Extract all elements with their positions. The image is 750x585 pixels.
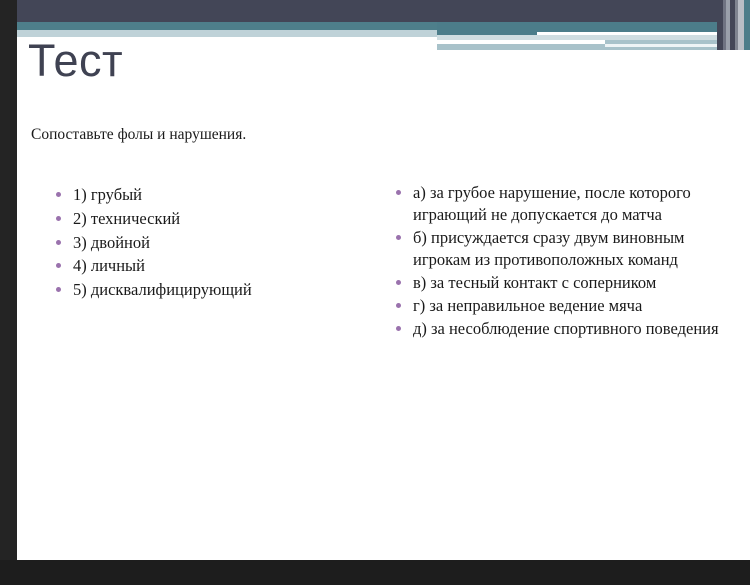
list-item: в) за тесный контакт с соперником <box>391 272 721 294</box>
slide-lead-text: Сопоставьте фолы и нарушения. <box>31 126 246 144</box>
header-stripe <box>744 0 750 50</box>
header-stripe <box>723 0 726 50</box>
header-mid-band-right <box>437 40 750 50</box>
list-item: д) за несоблюдение спортивного поведения <box>391 318 721 340</box>
header-white-sliver-top <box>537 32 750 35</box>
header-teal-band-left <box>17 22 437 30</box>
list-item: 2) технический <box>51 208 381 230</box>
header-pale-band-right <box>437 35 750 40</box>
header-dark-band <box>17 0 750 22</box>
list-item: а) за грубое нарушение, после которого и… <box>391 182 721 226</box>
header-white-sliver-mid <box>437 40 605 44</box>
header-teal-band-right <box>437 22 750 35</box>
list-item: 5) дисквалифицирующий <box>51 279 381 301</box>
header-stripe <box>738 0 744 50</box>
list-item: б) присуждается сразу двум виновным игро… <box>391 227 721 271</box>
list-item: 4) личный <box>51 255 381 277</box>
header-stripe <box>726 0 730 50</box>
slide-title: Тест <box>28 36 123 86</box>
list-item: 3) двойной <box>51 232 381 254</box>
left-column: 1) грубый 2) технический 3) двойной 4) л… <box>51 184 381 303</box>
right-bullet-list: а) за грубое нарушение, после которого и… <box>391 182 721 340</box>
left-bullet-list: 1) грубый 2) технический 3) двойной 4) л… <box>51 184 381 301</box>
list-item: 1) грубый <box>51 184 381 206</box>
window-bottom-margin <box>0 560 750 585</box>
header-stripe <box>730 0 735 50</box>
presentation-screen: Тест Сопоставьте фолы и нарушения. 1) гр… <box>0 0 750 585</box>
window-left-margin <box>0 0 17 585</box>
slide-canvas: Тест Сопоставьте фолы и нарушения. 1) гр… <box>17 0 750 560</box>
header-vertical-stripes <box>717 0 750 50</box>
header-stripe <box>717 0 723 50</box>
header-stripe <box>735 0 738 50</box>
list-item: г) за неправильное ведение мяча <box>391 295 721 317</box>
header-white-sliver-low <box>605 44 750 47</box>
right-column: а) за грубое нарушение, после которого и… <box>391 182 721 341</box>
